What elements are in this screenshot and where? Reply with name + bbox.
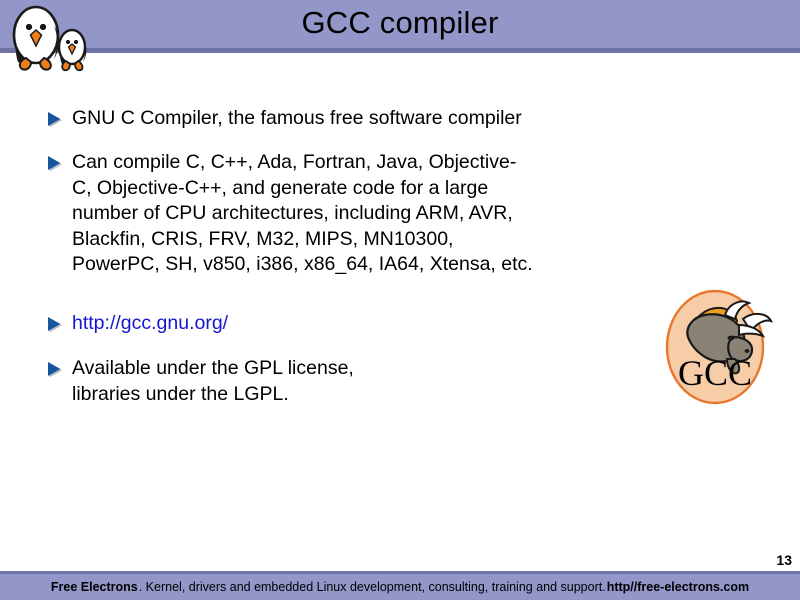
page-title: GCC compiler [0, 0, 800, 48]
bullet-triangle-icon [46, 359, 63, 381]
slide-content: GNU C Compiler, the famous free software… [0, 53, 800, 548]
list-item: Can compile C, C++, Ada, Fortran, Java, … [46, 150, 666, 278]
bullet-triangle-icon [46, 314, 63, 336]
bullet-triangle-icon [46, 153, 63, 175]
gcc-website-link[interactable]: http://gcc.gnu.org/ [72, 311, 228, 337]
page-number: 13 [776, 552, 792, 568]
footer-brand: Free Electrons [51, 580, 138, 594]
list-item-text: Can compile C, C++, Ada, Fortran, Java, … [72, 150, 533, 278]
list-item: GNU C Compiler, the famous free software… [46, 106, 686, 132]
list-item: Available under the GPL license, librari… [46, 356, 606, 407]
gcc-logo-label: GCC [678, 353, 752, 393]
list-item-text: GNU C Compiler, the famous free software… [72, 106, 522, 132]
list-item-text: Available under the GPL license, librari… [72, 356, 354, 407]
free-electrons-penguins-logo [4, 2, 96, 74]
slide-footer: Free Electrons. Kernel, drivers and embe… [0, 574, 800, 600]
footer-url[interactable]: http//free-electrons.com [607, 580, 749, 594]
list-item: http://gcc.gnu.org/ [46, 311, 606, 337]
bullet-triangle-icon [46, 109, 63, 131]
footer-description: . Kernel, drivers and embedded Linux dev… [138, 580, 607, 594]
gcc-logo-icon: GCC [655, 281, 783, 409]
